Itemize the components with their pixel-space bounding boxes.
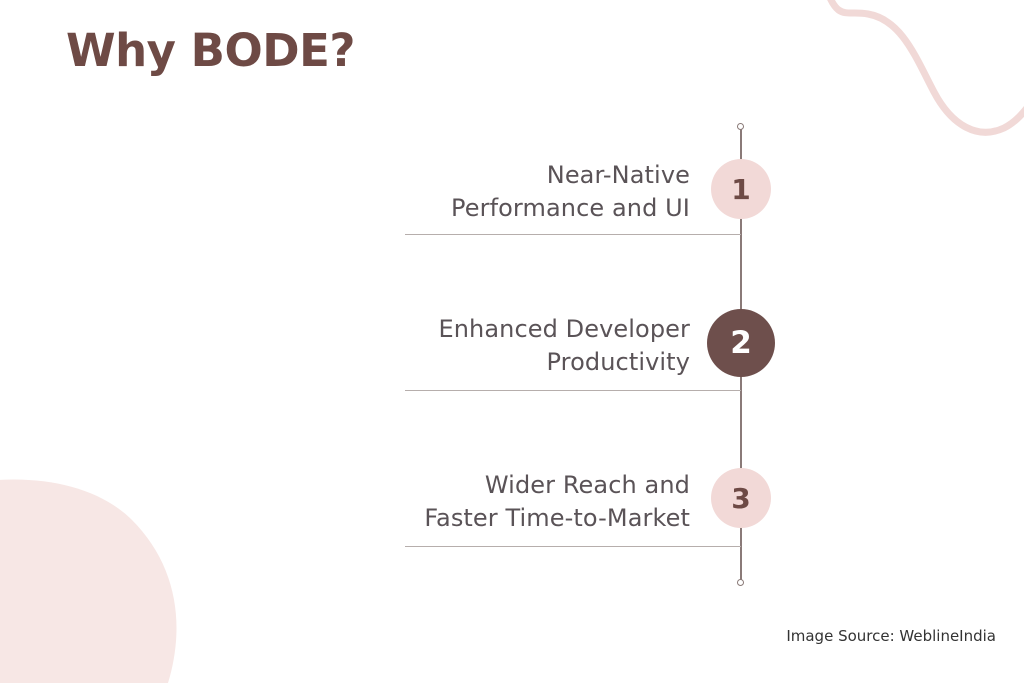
timeline-node-2[interactable]: 2	[707, 309, 775, 377]
timeline-divider-1	[405, 234, 741, 235]
timeline-item-label-1: Near-Native Performance and UI	[270, 159, 690, 225]
timeline-item-label-2-line-1: Enhanced Developer	[270, 313, 690, 346]
timeline-item-label-3-line-2: Faster Time-to-Market	[270, 502, 690, 535]
timeline-item-label-1-line-1: Near-Native	[270, 159, 690, 192]
timeline-item-label-1-line-2: Performance and UI	[270, 192, 690, 225]
timeline-item-label-2-line-2: Productivity	[270, 346, 690, 379]
timeline-node-3[interactable]: 3	[711, 468, 771, 528]
timeline-item-label-2: Enhanced Developer Productivity	[270, 313, 690, 379]
timeline-item-label-3-line-1: Wider Reach and	[270, 469, 690, 502]
timeline-divider-2	[405, 390, 741, 391]
timeline-node-1[interactable]: 1	[711, 159, 771, 219]
timeline-axis-top-cap-icon	[737, 123, 744, 130]
timeline-divider-3	[405, 546, 741, 547]
timeline-chart: Near-Native Performance and UI 1 Enhance…	[0, 0, 1024, 683]
timeline-axis-bottom-cap-icon	[737, 579, 744, 586]
slide-canvas: Why BODE? Near-Native Performance and UI…	[0, 0, 1024, 683]
timeline-item-label-3: Wider Reach and Faster Time-to-Market	[270, 469, 690, 535]
image-source-credit: Image Source: WeblineIndia	[786, 627, 996, 645]
